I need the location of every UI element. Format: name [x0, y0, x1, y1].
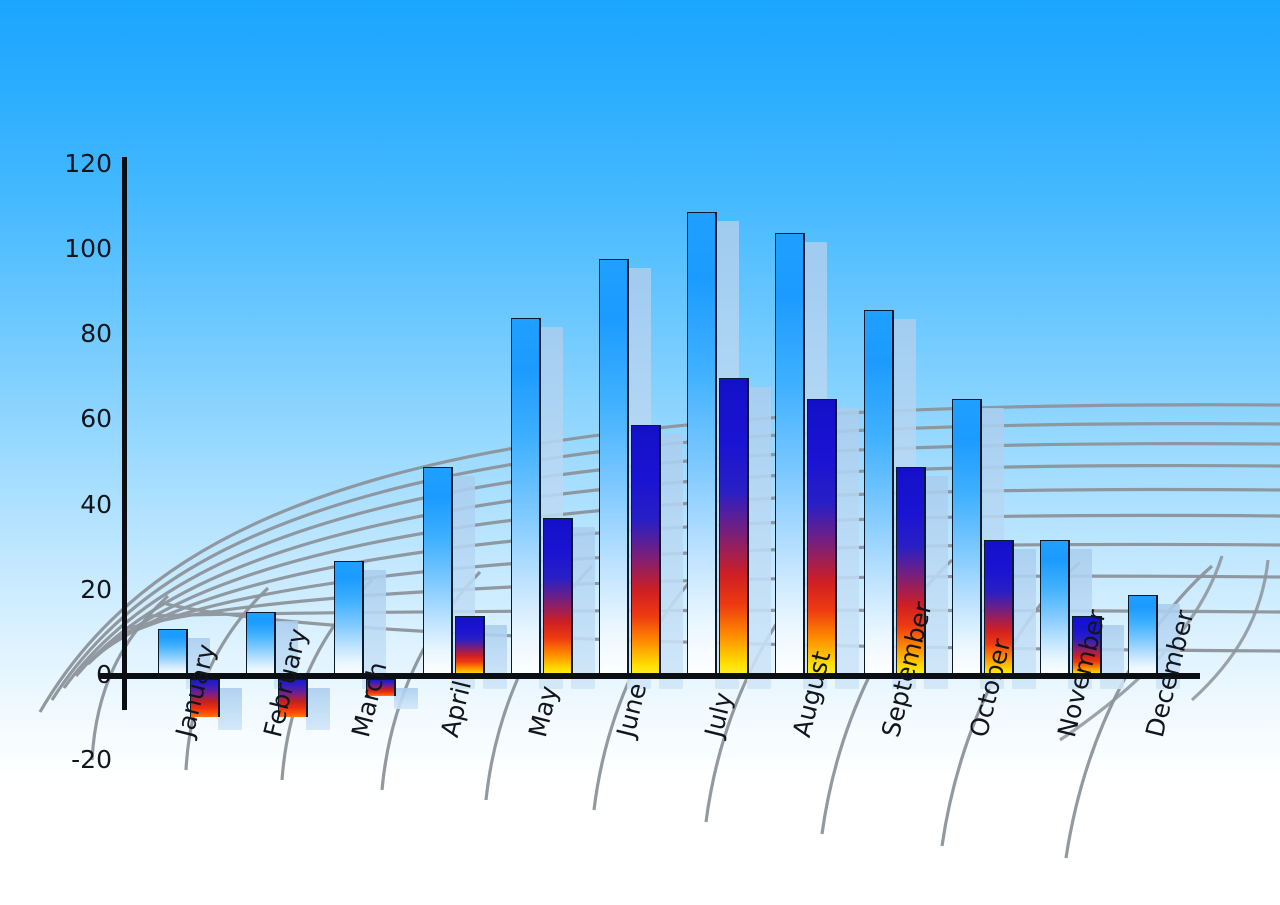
bar-shadow — [571, 527, 595, 689]
y-axis-tick-label: 60 — [80, 406, 112, 431]
bar-shadow — [924, 476, 948, 689]
bar-series-1[interactable] — [423, 467, 453, 676]
y-axis-tick-label: 20 — [80, 577, 112, 602]
y-axis-tick-label: -20 — [71, 747, 112, 772]
bar-series-2[interactable] — [807, 399, 837, 676]
bar-shadow — [659, 434, 683, 689]
x-axis-tick-label: April — [435, 678, 477, 740]
x-axis-tick-label: July — [699, 689, 738, 740]
bar-series-1[interactable] — [1128, 595, 1158, 676]
bar-series-1[interactable] — [511, 318, 541, 676]
bar-shadow — [835, 408, 859, 689]
bar-series-2[interactable] — [719, 378, 749, 676]
bar-series-1[interactable] — [864, 310, 894, 676]
x-axis-line — [100, 673, 1200, 679]
bar-shadow — [218, 688, 242, 730]
bar-shadow — [306, 688, 330, 730]
y-axis-labels: 120100806040200-20 — [0, 0, 112, 905]
plot-area: 120100806040200-20 JanuaryFebruaryMarchA… — [0, 0, 1280, 905]
bar-series-1[interactable] — [687, 212, 717, 676]
y-axis-tick-label: 120 — [64, 151, 112, 176]
x-axis-tick-label: June — [611, 680, 652, 740]
bar-series-1[interactable] — [246, 612, 276, 676]
chart-canvas: 120100806040200-20 JanuaryFebruaryMarchA… — [0, 0, 1280, 905]
bar-shadow — [1012, 549, 1036, 689]
bar-series-2[interactable] — [543, 518, 573, 676]
bar-series-1[interactable] — [1040, 540, 1070, 676]
bar-series-1[interactable] — [952, 399, 982, 676]
bar-series-1[interactable] — [599, 259, 629, 676]
bar-shadow — [747, 387, 771, 689]
bar-shadow — [394, 688, 418, 709]
bar-series-1[interactable] — [334, 561, 364, 676]
bar-series-1[interactable] — [775, 233, 805, 676]
y-axis-tick-label: 100 — [64, 236, 112, 261]
y-axis-tick-label: 80 — [80, 321, 112, 346]
bar-series-1[interactable] — [158, 629, 188, 676]
bar-shadow — [483, 625, 507, 689]
x-axis-tick-label: May — [523, 683, 564, 740]
y-axis-tick-label: 40 — [80, 492, 112, 517]
bar-series-2[interactable] — [455, 616, 485, 676]
y-axis-line — [122, 157, 127, 710]
bar-series-2[interactable] — [631, 425, 661, 676]
